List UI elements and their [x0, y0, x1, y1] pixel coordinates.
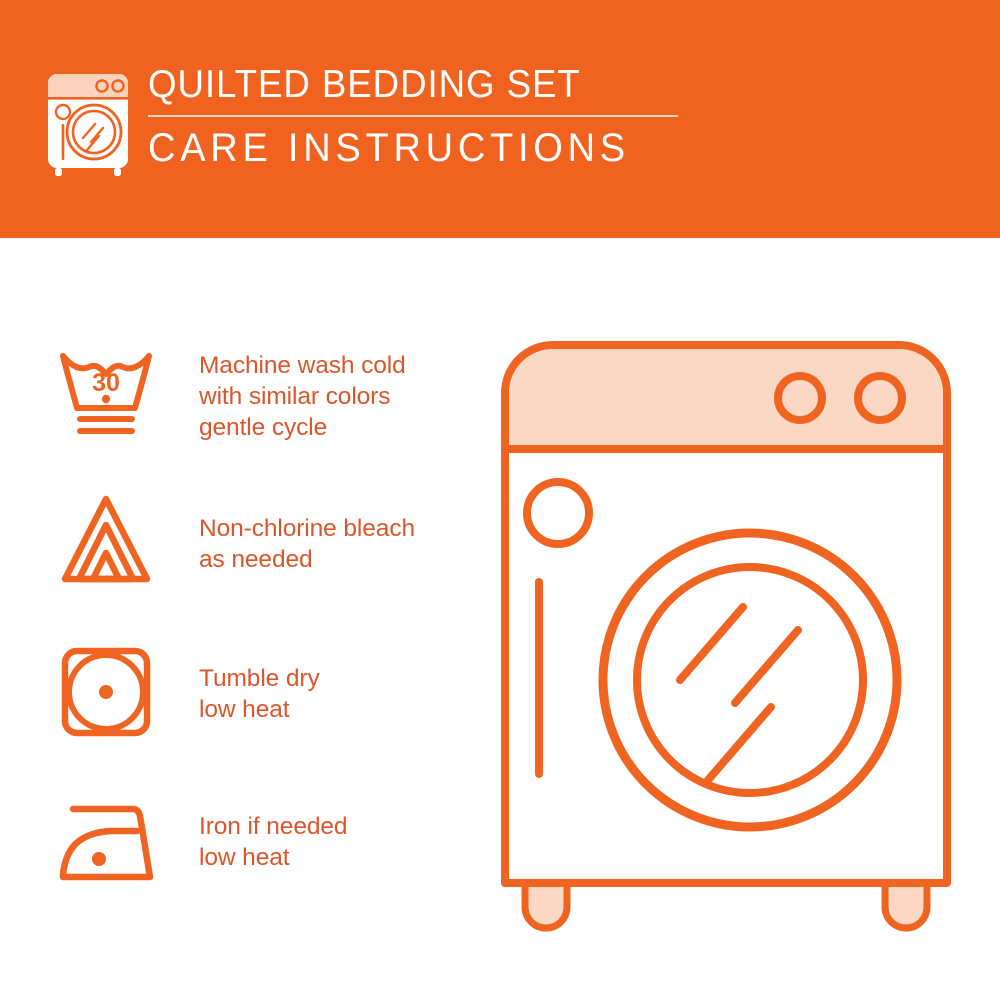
care-instruction-list: 30 Machine wash cold with similar colors… — [0, 238, 470, 1000]
tumble-dry-one-dot-icon — [55, 643, 157, 743]
care-text-iron: Iron if needed low heat — [199, 793, 347, 873]
washing-machine-icon — [42, 66, 138, 178]
wash-temperature-label: 30 — [92, 369, 120, 397]
care-row-iron: Iron if needed low heat — [55, 793, 455, 893]
header-title-group: QUILTED BEDDING SET CARE INSTRUCTIONS — [148, 62, 748, 171]
care-text-wash: Machine wash cold with similar colors ge… — [199, 346, 406, 443]
iron-one-dot-icon — [55, 793, 157, 893]
care-row-tumble-dry: Tumble dry low heat — [55, 643, 455, 743]
knob-left — [778, 376, 822, 420]
page-title: QUILTED BEDDING SET — [148, 62, 712, 108]
knob-right — [858, 376, 902, 420]
care-text-tumble-dry: Tumble dry low heat — [199, 643, 320, 725]
wash-tub-30-icon: 30 — [55, 346, 157, 446]
care-row-wash: 30 Machine wash cold with similar colors… — [55, 346, 455, 446]
vertical-slot — [535, 578, 543, 778]
page-subtitle: CARE INSTRUCTIONS — [148, 125, 718, 171]
header-banner: QUILTED BEDDING SET CARE INSTRUCTIONS — [0, 0, 1000, 238]
title-divider — [148, 115, 678, 117]
care-text-bleach: Non-chlorine bleach as needed — [199, 491, 415, 575]
care-instructions-page: QUILTED BEDDING SET CARE INSTRUCTIONS 30 — [0, 0, 1000, 1000]
detergent-port — [527, 482, 589, 544]
bleach-triangle-icon — [55, 491, 157, 591]
washing-machine-illustration — [495, 335, 975, 935]
care-row-bleach: Non-chlorine bleach as needed — [55, 491, 455, 591]
